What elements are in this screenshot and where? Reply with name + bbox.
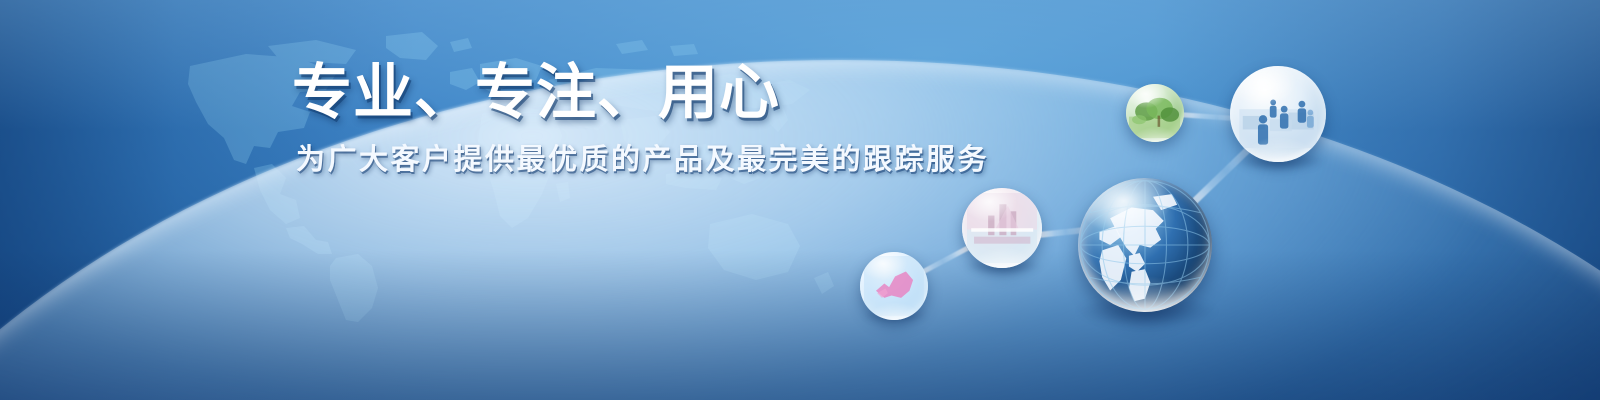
industry-sphere — [962, 188, 1042, 268]
promotional-banner: 专业、专注、用心 为广大客户提供最优质的产品及最完美的跟踪服务 — [0, 0, 1600, 400]
globe-grid — [1078, 178, 1212, 312]
banner-headline: 专业、专注、用心 — [292, 58, 1012, 128]
foliage-art — [1129, 87, 1180, 138]
banner-copy: 专业、专注、用心 为广大客户提供最优质的产品及最完美的跟踪服务 — [292, 58, 1012, 180]
nature-sphere — [1126, 84, 1184, 142]
banner-subheadline: 为广大客户提供最优质的产品及最完美的跟踪服务 — [296, 140, 1012, 180]
business-people-art — [1236, 72, 1321, 157]
people-sphere — [1230, 66, 1326, 162]
map-sphere — [860, 252, 928, 320]
region-map-art — [864, 256, 924, 316]
industrial-scene-art — [967, 193, 1037, 263]
main-globe-icon — [1078, 178, 1212, 312]
